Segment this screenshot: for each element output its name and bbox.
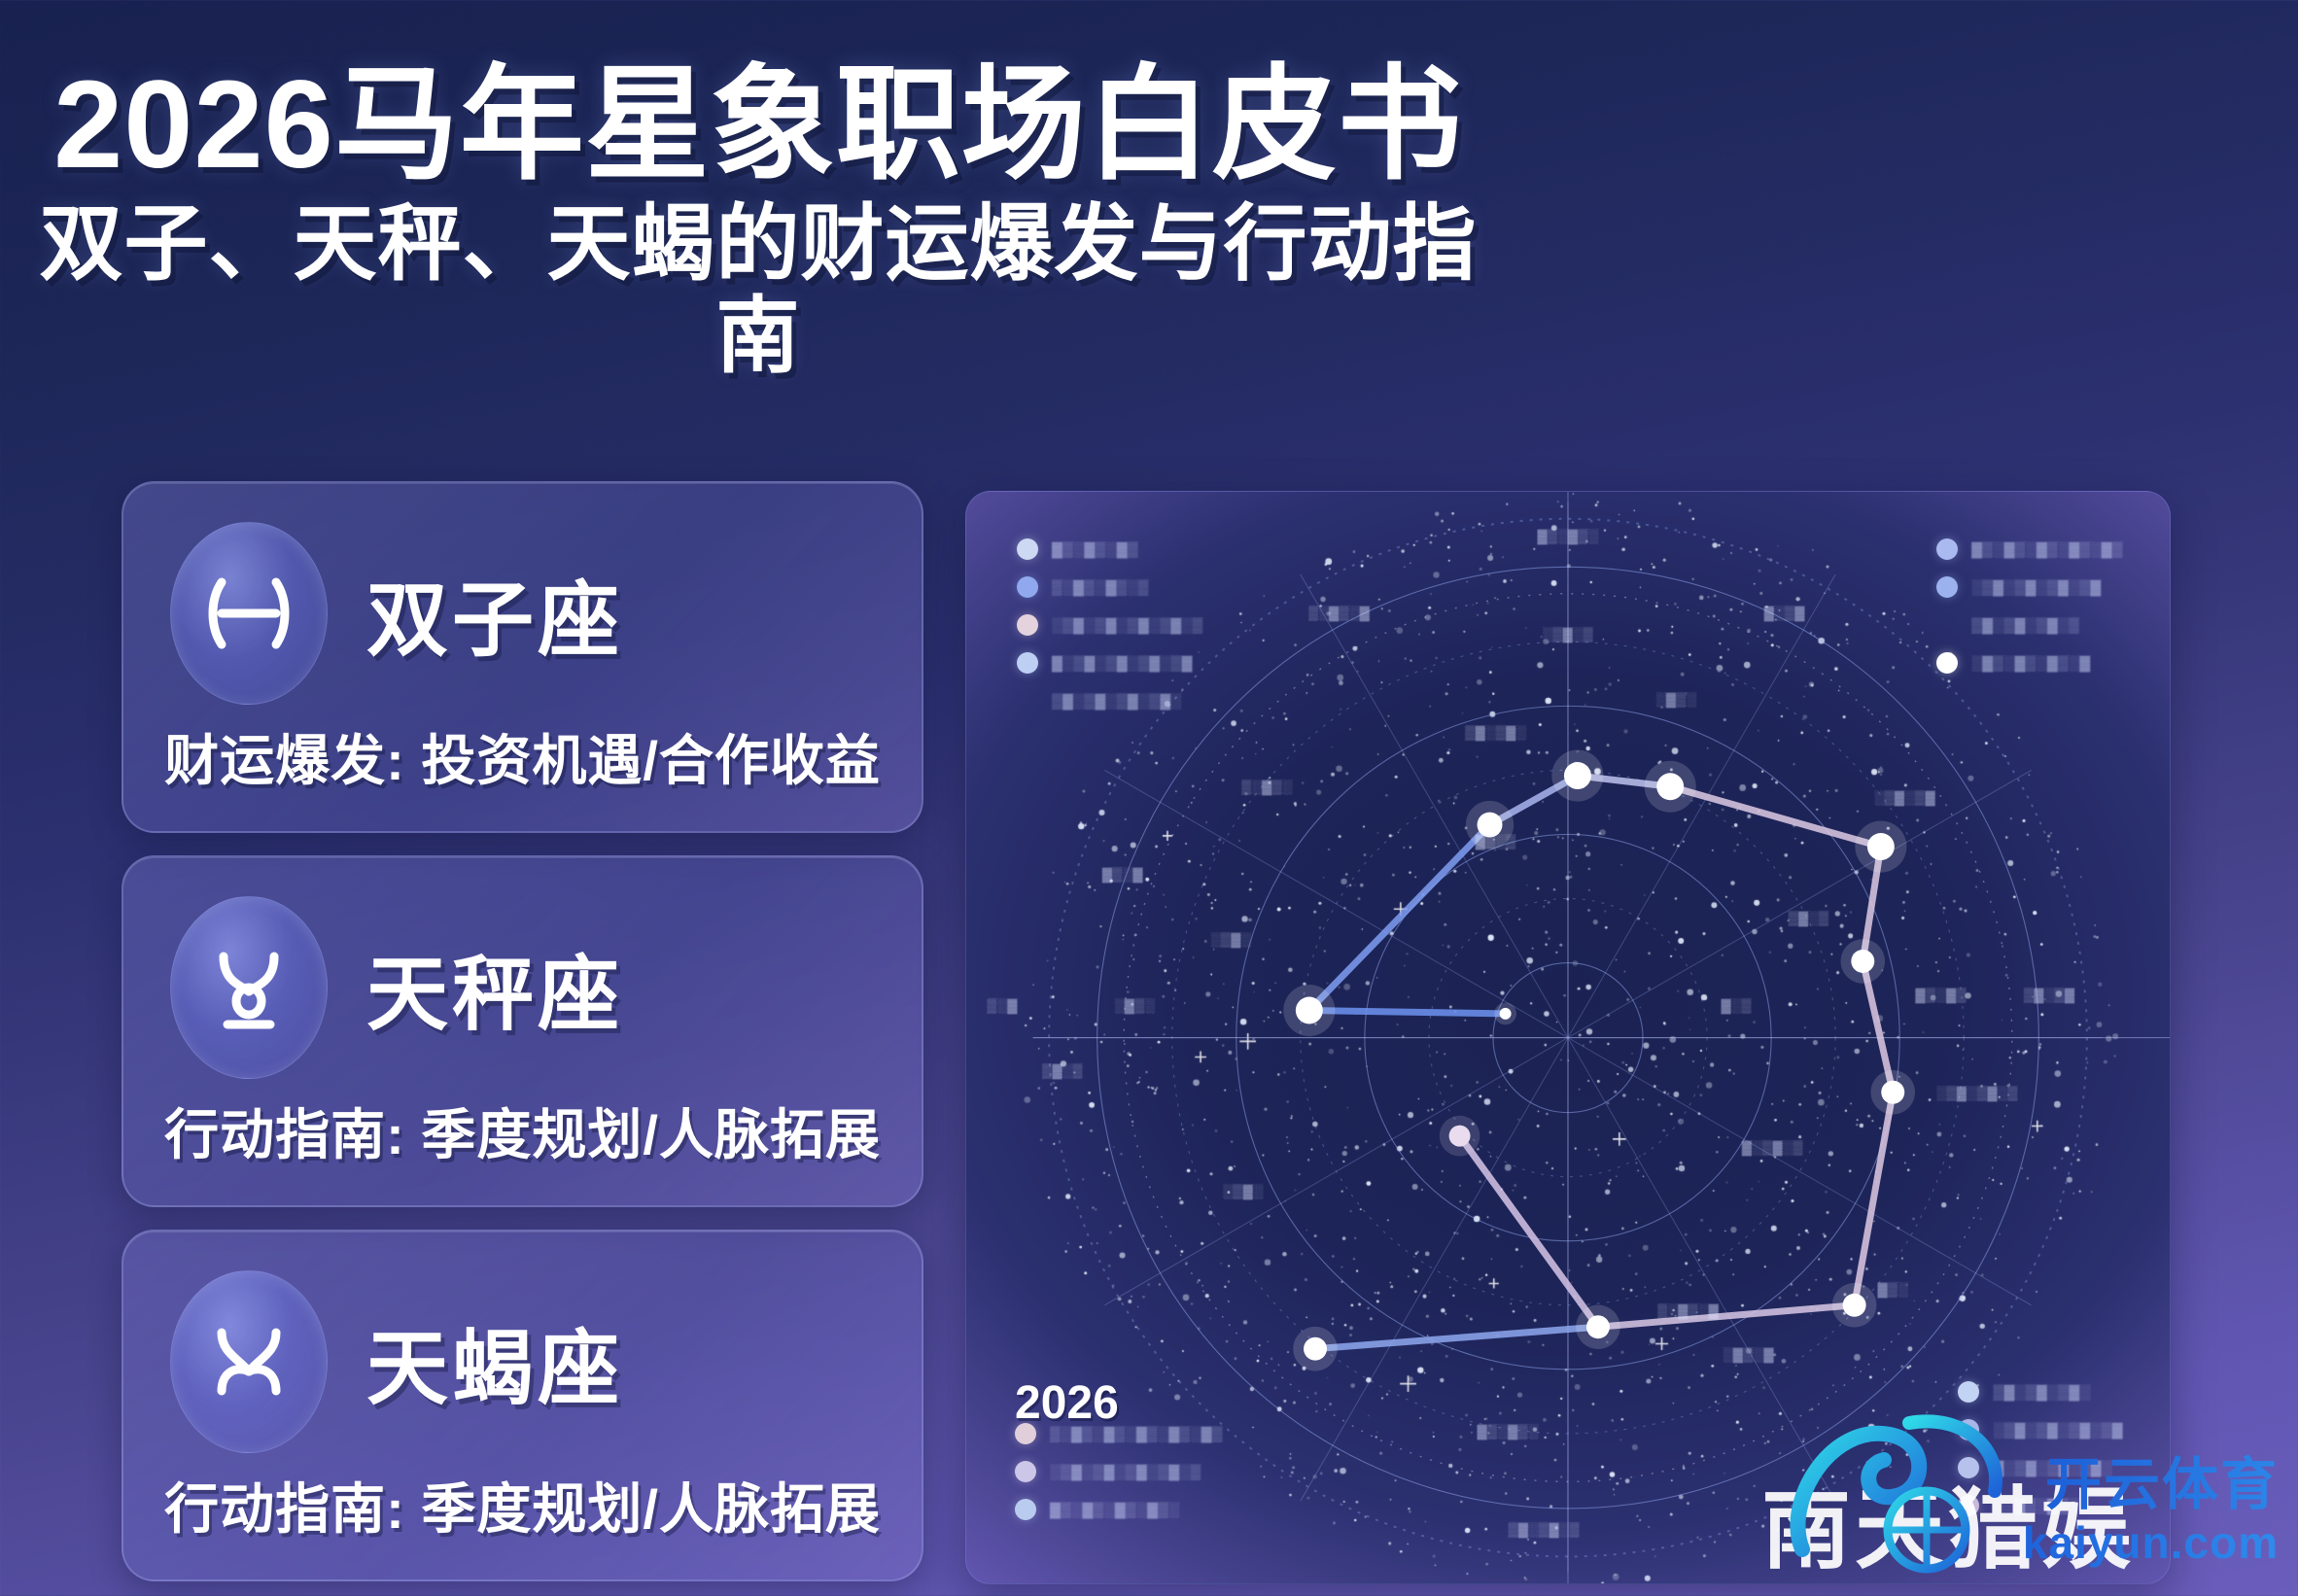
- zodiac-card-desc: 行动指南: 季度规划/人脉拓展: [123, 1466, 922, 1544]
- legend-label: ▒▓░▒▓░▒▓░▒: [1971, 617, 2079, 634]
- sky-label: ▒▓░▒: [1789, 910, 1829, 925]
- legend-color-dot: [1017, 576, 1038, 598]
- star-node: [1867, 833, 1895, 860]
- legend-color-dot: [1936, 576, 1958, 598]
- legend-item: ▓░▒▓░▒▓░▒▓░: [1958, 1457, 2123, 1478]
- legend-label: ▓▒░▓▒░▓▒░▓▒░: [1050, 1502, 1180, 1518]
- star-node: [1843, 1294, 1866, 1317]
- zodiac-card-list: 双子座 财运爆发: 投资机遇/合作收益 天秤座 行动指南: 季度规划/人脉拓展: [122, 481, 923, 1596]
- zodiac-card-desc: 财运爆发: 投资机遇/合作收益: [123, 717, 922, 796]
- zodiac-sign-name: 天秤座: [366, 929, 623, 1047]
- poster-header: 2026马年星象职场白皮书 双子、天秤、天蝎的财运爆发与行动指南: [0, 60, 1516, 383]
- sky-label: ▒░▓▒░: [1241, 779, 1292, 794]
- poster-root: 2026马年星象职场白皮书 双子、天秤、天蝎的财运爆发与行动指南 双子座 财运爆…: [0, 0, 2298, 1596]
- star-node: [1564, 762, 1591, 789]
- legend-label: ▒▓░▒▓░▒▓░: [1993, 1384, 2090, 1401]
- constellation-link: [1598, 1305, 1855, 1327]
- legend-color-dot: [1958, 1419, 1979, 1440]
- legend-color-dot: [1015, 1461, 1036, 1482]
- legend-label: ░▒▓░▒▓░▒▓░▒▓: [1993, 1422, 2123, 1439]
- constellation-link: [1309, 825, 1490, 1011]
- legend-bottom-left: ▒░▓▒░▓▒░▓▒░▓▒░▓▒░▒▓░▒▓░▒▓░▒▓░▒▓▒░▓▒░▓▒░▓…: [1015, 1423, 1223, 1537]
- gemini-icon: [170, 522, 328, 705]
- legend-item: ░▒▓░▒▓░▒▓░▒▓░▒: [1015, 1461, 1223, 1482]
- legend-item: ▒░▓▒░▓▒░▒: [1017, 576, 1203, 598]
- zodiac-sign-name: 天蝎座: [366, 1303, 623, 1421]
- grid-spoke: [1568, 574, 1835, 1038]
- star-node: [1586, 1315, 1610, 1338]
- sky-label: ▓░▒▓░▒: [1742, 1139, 1803, 1155]
- legend-item: ▓░▒▓░▒▓░▒▓░▒▓: [1017, 652, 1203, 674]
- legend-item: ░▒▓░▒▓░▒▓░▒▓░▒: [1017, 614, 1203, 636]
- zodiac-card-gemini[interactable]: 双子座 财运爆发: 投资机遇/合作收益: [122, 481, 923, 833]
- sky-label: ░▒▓░▒▓░▒: [1936, 1085, 2018, 1100]
- legend-item: ░▓▒░▓▒░▓▒░▓: [1936, 652, 2123, 674]
- legend-top-right: ▓▒░▓▒░▓▒░▓▒░▓▒░▒▓░▒▓░▒▓░▒▓▒▓░▒▓░▒▓░▒░▓▒░…: [1936, 538, 2123, 690]
- sky-label: ▓▒░▓: [1102, 866, 1143, 882]
- legend-item: ▓▒░▓▒░▓▒░▓▒░▓▒: [1936, 538, 2123, 560]
- sky-label: ▒▓░▒▓░▒: [1508, 1521, 1580, 1537]
- zodiac-card-libra[interactable]: 天秤座 行动指南: 季度规划/人脉拓展: [122, 855, 923, 1207]
- sky-label: ▓░▒▓: [1764, 605, 1805, 620]
- sky-label: ░▓▒░: [1655, 691, 1696, 707]
- constellation-link: [1309, 1011, 1506, 1014]
- sky-label: ▒▓░▒▓: [2024, 987, 2075, 1002]
- page-title: 2026马年星象职场白皮书: [0, 60, 1516, 191]
- card-header: 天秤座: [170, 896, 623, 1079]
- star-node: [1881, 1081, 1904, 1104]
- legend-label: ▓░▒▓░▒▓░▒▓░: [1993, 1460, 2112, 1476]
- sky-label: ▓▒░▓▒░: [1537, 528, 1598, 543]
- sky-label: ░▒▓░: [1223, 1183, 1264, 1198]
- sky-label: ░▒▓░▒▓: [1874, 789, 1935, 805]
- libra-icon: [170, 896, 328, 1079]
- sky-label: ░▒▓░▒: [1543, 626, 1593, 642]
- legend-item: ░▒▓░▒▓░▒▓░▒▓: [1958, 1419, 2123, 1440]
- zodiac-card-scorpio[interactable]: 天蝎座 行动指南: 季度规划/人脉拓展: [122, 1230, 923, 1581]
- star-node: [1851, 950, 1874, 973]
- legend-label: ▓░▒▓░▒▓░▒▓░▒▓: [1052, 655, 1193, 672]
- sky-label: ▒░▓▒░▓: [1657, 1302, 1719, 1318]
- legend-label: ▒▓░▒▓░▒▓░▒▓░: [1052, 693, 1182, 710]
- legend-label: ▓▒░▓▒░▓▒: [1052, 541, 1138, 558]
- legend-label: ░▓▒░▓▒░▓▒░▓: [1971, 655, 2091, 672]
- legend-item: ▒▓░▒▓░▒▓░: [1958, 1381, 2123, 1403]
- constellation-link: [1460, 1136, 1598, 1328]
- sky-label: ▓░▒: [1722, 997, 1753, 1013]
- legend-color-dot: [1936, 538, 1958, 560]
- sky-label: ░▓▒░▓: [1723, 1346, 1774, 1362]
- legend-label: ░▒▓░▒▓░▒▓░▒▓: [1971, 579, 2102, 596]
- legend-label: ░▒▓░▒▓░▒▓░▒▓░▒: [1050, 1464, 1201, 1480]
- star-node: [1449, 1126, 1471, 1147]
- legend-color-dot: [1936, 614, 1958, 636]
- card-header: 双子座: [170, 522, 623, 705]
- sky-label: ▒▓░▒▓░: [1465, 724, 1526, 740]
- legend-label: ▒░▓▒░▓▒░▒: [1052, 579, 1149, 596]
- legend-color-dot: [1958, 1495, 1979, 1516]
- legend-color-dot: [1017, 690, 1038, 711]
- zodiac-card-desc: 行动指南: 季度规划/人脉拓展: [123, 1092, 922, 1170]
- grid-spoke: [1568, 1038, 1835, 1502]
- sky-label: ▓▒░▒: [1476, 833, 1516, 849]
- legend-color-dot: [1017, 652, 1038, 674]
- legend-item: ▓▒░▓▒░▓▒: [1017, 538, 1203, 560]
- legend-item: ▒░▓▒░▓▒░: [1958, 1495, 2123, 1516]
- legend-label: ▒░▓▒░▓▒░: [1993, 1498, 2079, 1514]
- sky-label: ░▒▓░: [1210, 931, 1251, 947]
- star-node: [1656, 773, 1684, 800]
- legend-color-dot: [1958, 1381, 1979, 1403]
- legend-item: ▒▓░▒▓░▒▓░▒▓░: [1017, 690, 1203, 711]
- sky-label: ▒░▓: [987, 997, 1018, 1013]
- legend-color-dot: [1017, 538, 1038, 560]
- page-subtitle: 双子、天秤、天蝎的财运爆发与行动指南: [0, 198, 1516, 382]
- legend-color-dot: [1015, 1499, 1036, 1520]
- sky-label: ▓▒░▓▒░: [1478, 1423, 1539, 1439]
- constellation-link: [1855, 1093, 1894, 1305]
- sky-label: ░▓▒░: [1114, 997, 1155, 1013]
- legend-item: ▒▓░▒▓░▒▓░▒: [1936, 614, 2123, 636]
- sky-label: ▒░▓▒░▓: [1308, 605, 1370, 620]
- sky-label: ▓▒░▓▒: [1915, 987, 1967, 1002]
- star-node: [1500, 1008, 1512, 1020]
- card-header: 天蝎座: [170, 1270, 623, 1453]
- legend-color-dot: [1017, 614, 1038, 636]
- sky-label: ▒▓░▒: [1042, 1062, 1083, 1078]
- legend-color-dot: [1958, 1457, 1979, 1478]
- constellation-link: [1315, 1327, 1598, 1348]
- star-node: [1304, 1337, 1327, 1361]
- constellation-link: [1670, 786, 1881, 847]
- grid-spoke: [1104, 1038, 1568, 1305]
- zodiac-sign-name: 双子座: [366, 555, 623, 673]
- star-node: [1296, 997, 1323, 1024]
- legend-color-dot: [1936, 652, 1958, 674]
- legend-label: ▓▒░▓▒░▓▒░▓▒░▓▒: [1971, 541, 2123, 558]
- star-chart-panel: ▓▒░▓▒░▓▒▒░▓▒░▓▒░▒░▒▓░▒▓░▒▓░▒▓░▒▓░▒▓░▒▓░▒…: [965, 491, 2171, 1584]
- legend-top-left: ▓▒░▓▒░▓▒▒░▓▒░▓▒░▒░▒▓░▒▓░▒▓░▒▓░▒▓░▒▓░▒▓░▒…: [1017, 538, 1203, 728]
- legend-item: ░▒▓░▒▓░▒▓░▒▓: [1936, 576, 2123, 598]
- legend-item: ▓▒░▓▒░▓▒░▓▒░: [1015, 1499, 1223, 1520]
- sky-label: ▓▒░: [1877, 1281, 1908, 1297]
- legend-label: ░▒▓░▒▓░▒▓░▒▓░▒: [1052, 617, 1203, 634]
- scorpio-icon: [170, 1270, 328, 1453]
- legend-bottom-right: ▒▓░▒▓░▒▓░░▒▓░▒▓░▒▓░▒▓▓░▒▓░▒▓░▒▓░▒░▓▒░▓▒░: [1958, 1381, 2123, 1533]
- chart-year-label: 2026: [1015, 1376, 1119, 1430]
